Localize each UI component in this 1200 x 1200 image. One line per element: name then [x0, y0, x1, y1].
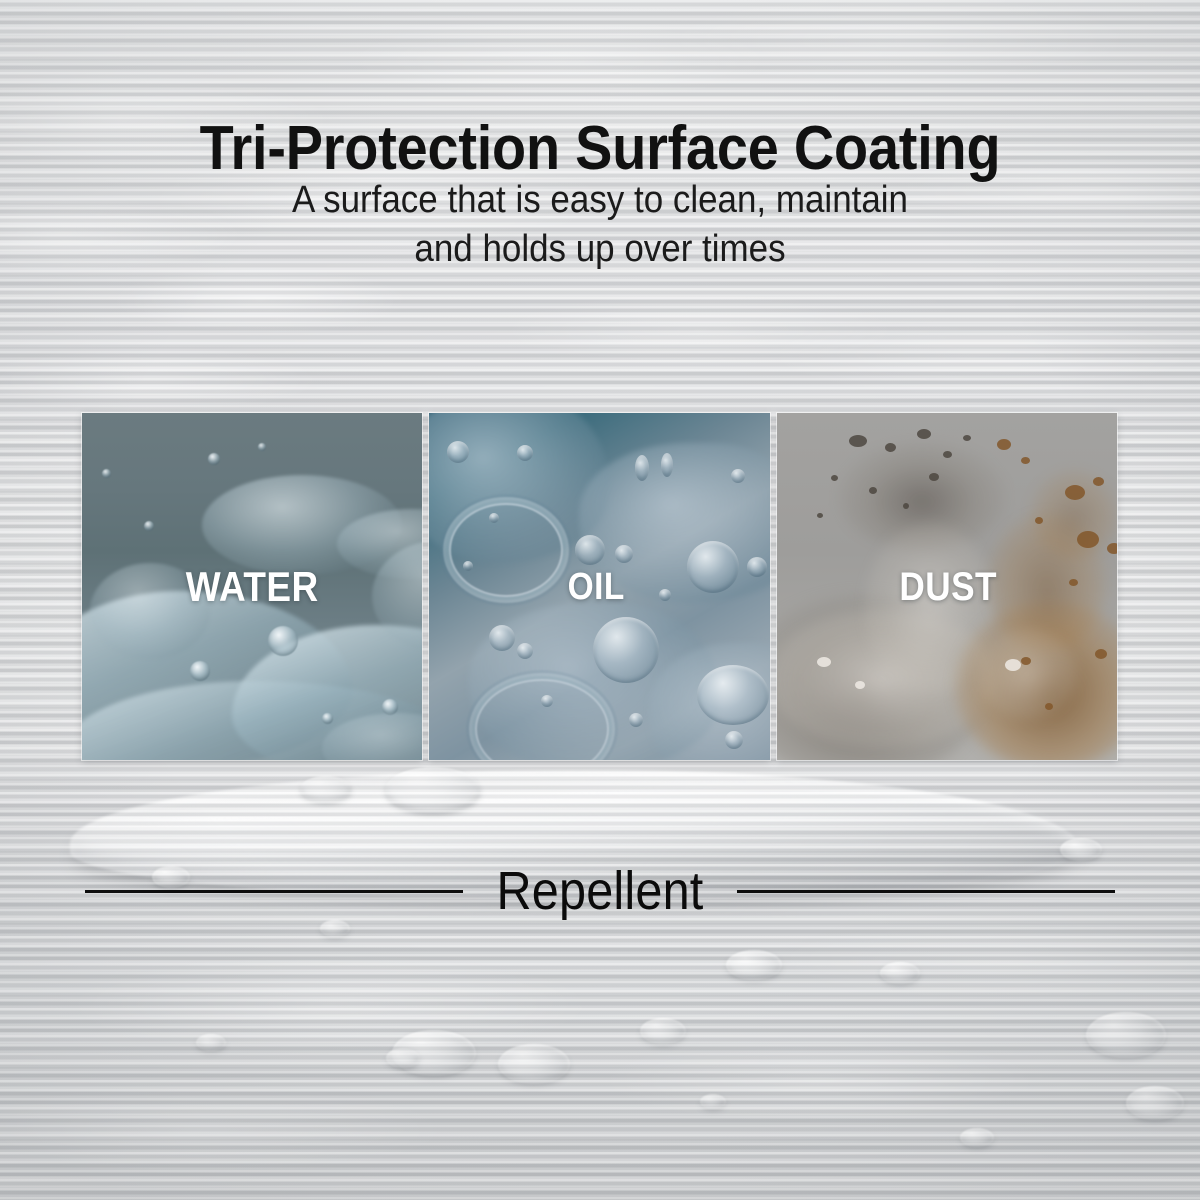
water-bead [880, 962, 920, 984]
water-bead [700, 1094, 726, 1109]
feature-panel-label-oil: OIL [447, 568, 746, 606]
water-bead [498, 1044, 570, 1084]
page-title: Tri-Protection Surface Coating [60, 118, 1140, 180]
feature-panel-water[interactable]: WATER [82, 413, 422, 760]
water-bead [386, 1048, 420, 1068]
water-bead [640, 1018, 686, 1044]
page-subtitle-line-2: and holds up over times [48, 225, 1152, 274]
water-bead-large-rim [96, 782, 1058, 871]
feature-panel-dust[interactable]: DUST [777, 413, 1117, 760]
water-bead [726, 950, 782, 980]
poster-canvas: Tri-Protection Surface Coating A surface… [0, 0, 1200, 1200]
water-bead [300, 776, 352, 802]
water-bead [385, 767, 481, 813]
page-subtitle: A surface that is easy to clean, maintai… [48, 176, 1152, 275]
water-bead [1060, 838, 1102, 861]
repellent-strap: Repellent [85, 860, 1115, 922]
strap-label: Repellent [497, 864, 704, 918]
water-bead [1126, 1086, 1184, 1120]
water-bead [196, 1034, 226, 1051]
feature-panel-label-water: WATER [102, 566, 401, 608]
page-subtitle-line-1: A surface that is easy to clean, maintai… [48, 176, 1152, 225]
strap-rule-left [85, 890, 463, 893]
feature-panel-label-dust: DUST [798, 567, 1097, 607]
feature-panel-oil[interactable]: OIL [429, 413, 769, 760]
feature-panel-group: WATER [82, 413, 1117, 760]
water-bead [320, 920, 350, 937]
strap-rule-right [737, 890, 1115, 893]
water-bead [960, 1128, 994, 1147]
water-bead [1086, 1012, 1166, 1058]
